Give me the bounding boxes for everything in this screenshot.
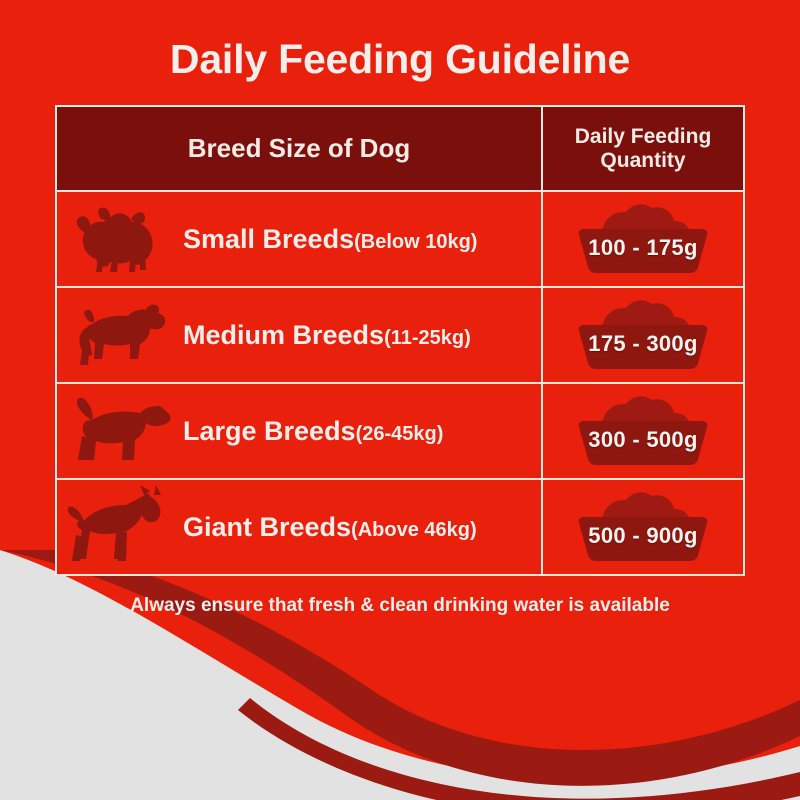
breed-weight: (26-45kg)	[356, 423, 444, 445]
dog-food-bowl-icon: 500 - 900g	[558, 487, 728, 567]
table-row: Small Breeds(Below 10kg) 100 - 175g	[57, 190, 743, 286]
quantity-value: 300 - 500g	[558, 427, 728, 453]
breed-name: Giant Breeds	[183, 512, 351, 542]
quantity-value: 175 - 300g	[558, 331, 728, 357]
breed-label: Large Breeds(26-45kg)	[183, 416, 443, 447]
breed-cell: Medium Breeds(11-25kg)	[57, 288, 543, 382]
breed-label: Giant Breeds(Above 46kg)	[183, 512, 477, 543]
header-cell-breed: Breed Size of Dog	[57, 107, 543, 190]
page-title: Daily Feeding Guideline	[0, 36, 800, 83]
quantity-value: 500 - 900g	[558, 523, 728, 549]
table-row: Medium Breeds(11-25kg) 175 - 300g	[57, 286, 743, 382]
breed-cell: Large Breeds(26-45kg)	[57, 384, 543, 478]
breed-label: Medium Breeds(11-25kg)	[183, 320, 471, 351]
table-row: Large Breeds(26-45kg) 300 - 500g	[57, 382, 743, 478]
breed-name: Large Breeds	[183, 416, 356, 446]
breed-cell: Small Breeds(Below 10kg)	[57, 192, 543, 286]
quantity-cell: 500 - 900g	[543, 480, 743, 574]
dog-food-bowl-icon: 100 - 175g	[558, 199, 728, 279]
daily-feeding-guideline-poster: Daily Feeding Guideline Breed Size of Do…	[0, 0, 800, 800]
breed-weight: (11-25kg)	[384, 327, 471, 349]
bottom-wave-decoration	[0, 550, 800, 800]
header-breed-label: Breed Size of Dog	[188, 133, 410, 164]
breed-cell: Giant Breeds(Above 46kg)	[57, 480, 543, 574]
header-quantity-line1: Daily Feeding	[575, 125, 712, 148]
breed-label: Small Breeds(Below 10kg)	[183, 224, 477, 255]
feeding-guideline-table: Breed Size of Dog Daily Feeding Quantity	[55, 105, 745, 576]
quantity-value: 100 - 175g	[558, 235, 728, 261]
header-quantity-label: Daily Feeding Quantity	[575, 125, 712, 172]
table-row: Giant Breeds(Above 46kg) 500 - 900g	[57, 478, 743, 574]
quantity-cell: 300 - 500g	[543, 384, 743, 478]
header-quantity-line2: Quantity	[600, 149, 685, 172]
dog-food-bowl-icon: 175 - 300g	[558, 295, 728, 375]
header-cell-quantity: Daily Feeding Quantity	[543, 107, 743, 190]
breed-name: Small Breeds	[183, 224, 354, 254]
medium-dog-silhouette-icon	[57, 288, 183, 382]
breed-weight: (Below 10kg)	[354, 231, 477, 253]
breed-name: Medium Breeds	[183, 320, 384, 350]
table-header-row: Breed Size of Dog Daily Feeding Quantity	[57, 107, 743, 190]
water-reminder-note: Always ensure that fresh & clean drinkin…	[0, 595, 800, 617]
quantity-cell: 100 - 175g	[543, 192, 743, 286]
quantity-cell: 175 - 300g	[543, 288, 743, 382]
small-dog-silhouette-icon	[57, 192, 183, 286]
large-dog-silhouette-icon	[57, 384, 183, 478]
giant-dog-silhouette-icon	[57, 480, 183, 574]
breed-weight: (Above 46kg)	[351, 519, 477, 541]
dog-food-bowl-icon: 300 - 500g	[558, 391, 728, 471]
